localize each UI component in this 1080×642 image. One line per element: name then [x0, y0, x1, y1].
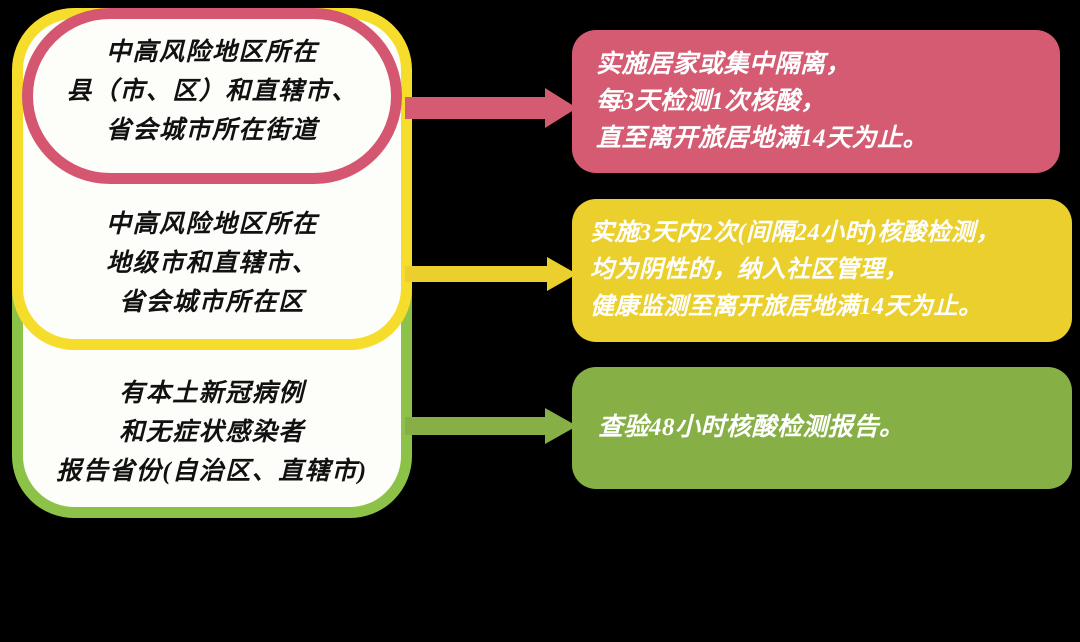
action-card-home-or-central-quarantine[interactable]: 实施居家或集中隔离， 每3天检测1次核酸， 直至离开旅居地满14天为止。: [572, 30, 1060, 173]
arrow-right-icon-yellow: [405, 257, 577, 291]
action-label-home-or-central-quarantine: 实施居家或集中隔离， 每3天检测1次核酸， 直至离开旅居地满14天为止。: [596, 46, 928, 157]
condition-label-high-risk-county: 中高风险地区所在 县（市、区）和直辖市、 省会城市所在街道: [12, 33, 412, 150]
action-label-two-tests-in-three-days: 实施3天内2次(间隔24小时)核酸检测， 均为阴性的，纳入社区管理， 健康监测至…: [590, 215, 1000, 326]
condition-label-local-cases-province: 有本土新冠病例 和无症状感染者 报告省份(自治区、直辖市): [12, 374, 412, 491]
arrow-right-icon-green: [405, 408, 577, 444]
action-card-check-48h-report[interactable]: 查验48小时核酸检测报告。: [572, 367, 1072, 489]
action-card-two-tests-in-three-days[interactable]: 实施3天内2次(间隔24小时)核酸检测， 均为阴性的，纳入社区管理， 健康监测至…: [572, 199, 1072, 342]
arrow-right-icon-pink: [405, 88, 577, 128]
action-label-check-48h-report: 查验48小时核酸检测报告。: [598, 410, 905, 446]
condition-label-high-risk-prefecture: 中高风险地区所在 地级市和直辖市、 省会城市所在区: [12, 205, 412, 322]
infographic-canvas: 中高风险地区所在 县（市、区）和直辖市、 省会城市所在街道 中高风险地区所在 地…: [0, 0, 1080, 642]
